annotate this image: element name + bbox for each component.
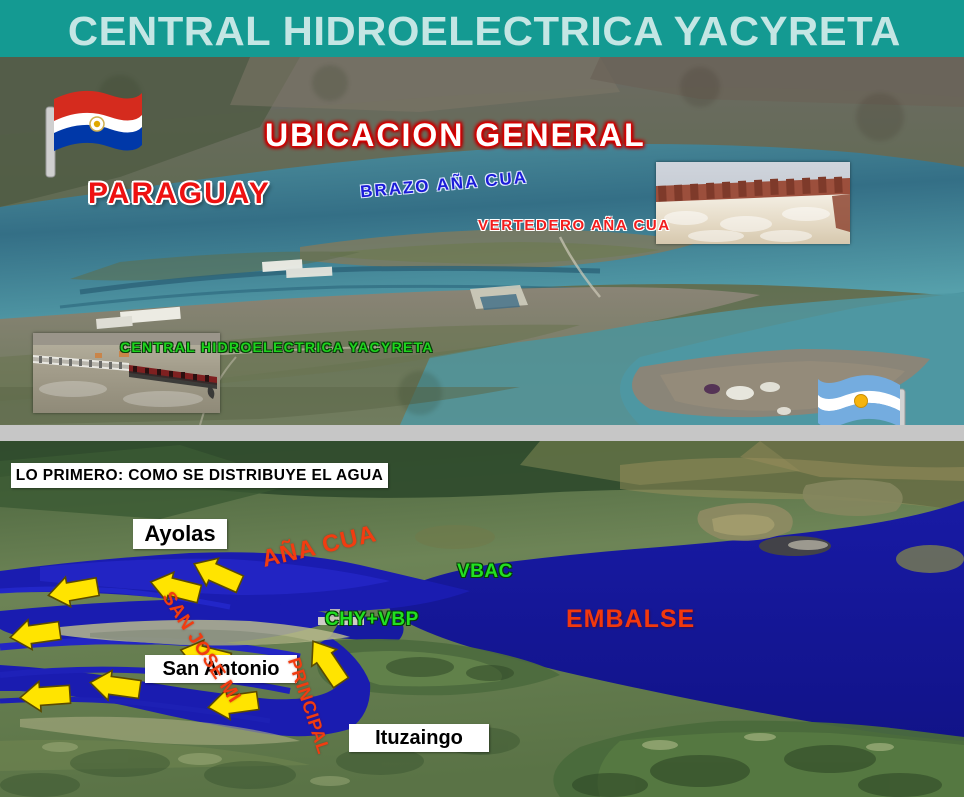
central-hidroelectrica-label: CENTRAL HIDROELECTRICA YACYRETA xyxy=(120,339,434,355)
ubicacion-general-heading: UBICACION GENERAL xyxy=(265,117,646,154)
argentina-flag xyxy=(818,367,928,425)
flow-arrow-yellow-6 xyxy=(190,559,246,593)
paraguay-label: PARAGUAY xyxy=(88,177,271,211)
flow-tag-chy-vbp: CHY+VBP xyxy=(325,609,419,631)
spillway-photo-inset xyxy=(656,162,850,244)
section-divider xyxy=(0,425,964,441)
page-title: CENTRAL HIDROELECTRICA YACYRETA xyxy=(66,5,899,52)
poster-root: CENTRAL HIDROELECTRICA YACYRETA xyxy=(0,0,964,797)
flow-arrow-yellow-1 xyxy=(8,619,64,653)
spillway-photo-image xyxy=(656,162,850,244)
place-label-ayolas: Ayolas xyxy=(133,519,227,549)
page-title-text: CENTRAL HIDROELECTRICA YACYRETA xyxy=(66,5,899,51)
flow-tag-vbac: VBAC xyxy=(457,561,513,583)
top-satellite-map: UBICACION GENERAL PARAGUAY BRAZO AÑA CUA… xyxy=(0,57,964,425)
paraguay-flag xyxy=(38,79,148,184)
header-bar: CENTRAL HIDROELECTRICA YACYRETA xyxy=(0,0,964,57)
banner-lo-primero: LO PRIMERO: COMO SE DISTRIBUYE EL AGUA xyxy=(11,463,388,488)
flow-arrow-yellow-4 xyxy=(88,671,144,705)
reservoir-label-embalse: EMBALSE xyxy=(566,605,695,634)
flow-arrow-yellow-3 xyxy=(18,681,74,715)
flow-arrow-yellow-2 xyxy=(46,576,102,610)
vertedero-ana-cua-label: VERTEDERO AÑA CUA xyxy=(478,217,671,234)
place-label-ituzaingo: Ituzaingo xyxy=(349,724,489,752)
